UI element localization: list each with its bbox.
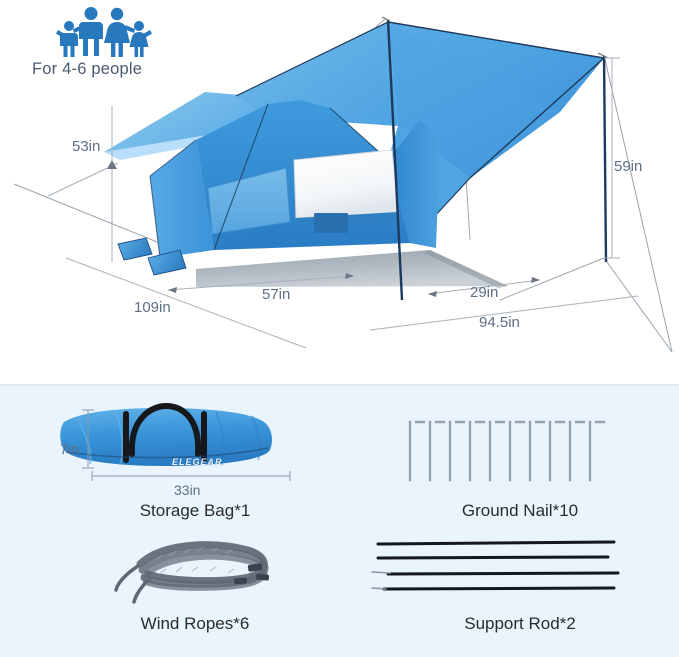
family-4-6-icon bbox=[42, 6, 162, 58]
dimension-29in: 29in bbox=[470, 284, 498, 301]
bag-width-33in: 33in bbox=[174, 482, 200, 498]
capacity-badge: For 4-6 people bbox=[32, 6, 202, 88]
product-infographic: For 4-6 people 53in 59in 109in 57in 29in… bbox=[0, 0, 679, 657]
capacity-label: For 4-6 people bbox=[32, 60, 202, 79]
dimension-59in: 59in bbox=[614, 158, 642, 175]
accessory-storage-bag: ELEGEAR 7in 33in Storage Bag*1 bbox=[20, 394, 370, 524]
window-pocket bbox=[314, 213, 348, 233]
storage-bag-label: Storage Bag*1 bbox=[20, 501, 370, 521]
support-rods-label: Support Rod*2 bbox=[370, 614, 670, 634]
wind-ropes-icon bbox=[20, 526, 370, 616]
ground-nails-icon bbox=[370, 394, 670, 499]
support-rods-icon bbox=[370, 526, 670, 616]
wind-ropes-label: Wind Ropes*6 bbox=[20, 614, 370, 634]
accessory-ground-nails: Ground Nail*10 bbox=[370, 394, 670, 524]
dimension-109in: 109in bbox=[134, 299, 171, 316]
bag-brand-text: ELEGEAR bbox=[172, 457, 223, 467]
accessory-wind-ropes: Wind Ropes*6 bbox=[20, 526, 370, 651]
tent-dimensions-section: For 4-6 people 53in 59in 109in 57in 29in… bbox=[0, 0, 679, 386]
accessory-support-rods: Support Rod*2 bbox=[370, 526, 670, 651]
pole-right bbox=[604, 56, 606, 262]
ground-nails-label: Ground Nail*10 bbox=[370, 501, 670, 521]
dimension-57in: 57in bbox=[262, 286, 290, 303]
accessories-section: ELEGEAR 7in 33in Storage Bag*1 bbox=[0, 386, 679, 657]
dimension-94.5in: 94.5in bbox=[479, 314, 520, 331]
dimension-53in: 53in bbox=[72, 138, 100, 155]
bag-height-7in: 7in bbox=[60, 441, 79, 457]
tent-floor bbox=[196, 250, 508, 288]
awning-window bbox=[294, 150, 398, 233]
